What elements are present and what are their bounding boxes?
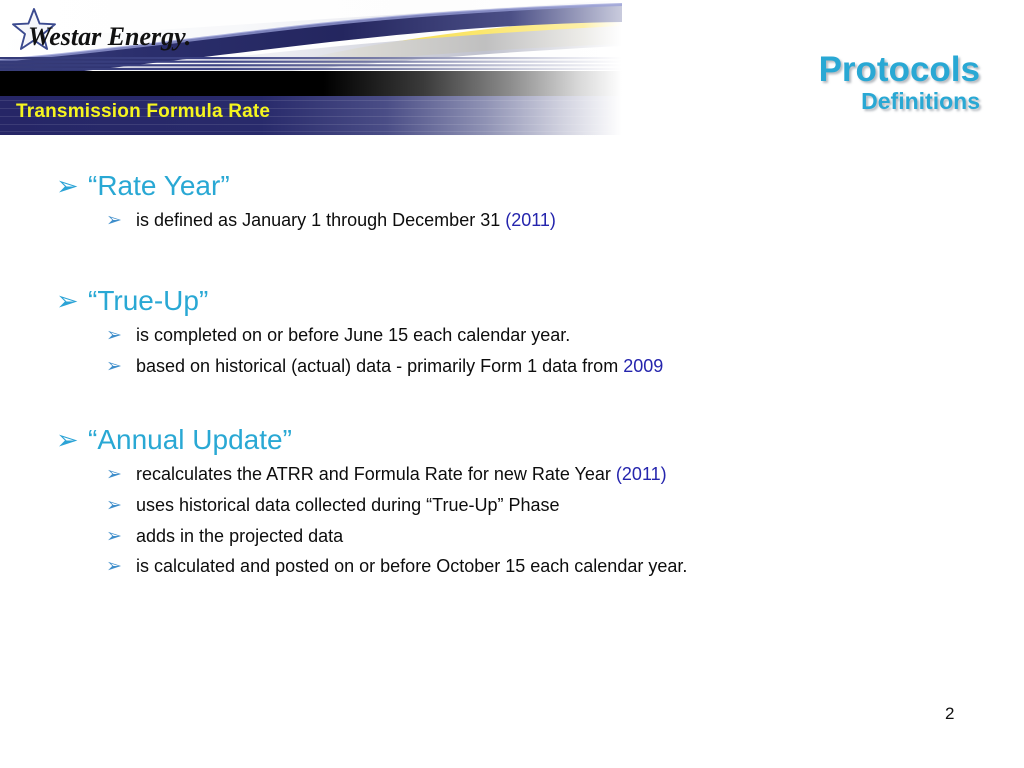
content-group-annual-update: ➢ “Annual Update” ➢ recalculates the ATR… bbox=[0, 424, 1024, 578]
bullet-arrow-icon: ➢ bbox=[106, 496, 136, 515]
page-number: 2 bbox=[945, 704, 954, 724]
bullet-item-main: is defined as January 1 through December… bbox=[136, 210, 505, 230]
bullet-item: ➢ is completed on or before June 15 each… bbox=[0, 325, 1024, 347]
bullet-arrow-icon: ➢ bbox=[106, 557, 136, 576]
westar-energy-logo: Westar Energy. bbox=[10, 6, 200, 58]
bullet-heading-annual-update: ➢ “Annual Update” bbox=[0, 424, 1024, 456]
content-group-true-up: ➢ “True-Up” ➢ is completed on or before … bbox=[0, 285, 1024, 377]
page-title: Protocols bbox=[819, 52, 980, 88]
group-spacer bbox=[0, 386, 1024, 424]
bullet-heading-true-up: ➢ “True-Up” bbox=[0, 285, 1024, 317]
bullet-item-text: is defined as January 1 through December… bbox=[136, 210, 556, 232]
bullet-item-main: recalculates the ATRR and Formula Rate f… bbox=[136, 464, 616, 484]
bullet-item: ➢ recalculates the ATRR and Formula Rate… bbox=[0, 464, 1024, 486]
bullet-item-text: uses historical data collected during “T… bbox=[136, 495, 560, 517]
bullet-item-highlight: 2009 bbox=[623, 356, 663, 376]
bullet-item-main: adds in the projected data bbox=[136, 526, 343, 546]
slide-content: ➢ “Rate Year” ➢ is defined as January 1 … bbox=[0, 170, 1024, 587]
logo-wordmark: Westar Energy. bbox=[28, 22, 191, 51]
bullet-arrow-icon: ➢ bbox=[56, 427, 88, 454]
bullet-heading-text: “Rate Year” bbox=[88, 170, 230, 202]
page-subtitle: Definitions bbox=[819, 89, 980, 114]
bullet-arrow-icon: ➢ bbox=[106, 465, 136, 484]
bullet-item-text: recalculates the ATRR and Formula Rate f… bbox=[136, 464, 667, 486]
bullet-item-text: is completed on or before June 15 each c… bbox=[136, 325, 570, 347]
bullet-arrow-icon: ➢ bbox=[106, 211, 136, 230]
group-spacer bbox=[0, 241, 1024, 285]
bullet-heading-text: “Annual Update” bbox=[88, 424, 292, 456]
bullet-item: ➢ based on historical (actual) data - pr… bbox=[0, 356, 1024, 378]
bullet-item-text: is calculated and posted on or before Oc… bbox=[136, 556, 687, 578]
bullet-arrow-icon: ➢ bbox=[106, 326, 136, 345]
bullet-item: ➢ uses historical data collected during … bbox=[0, 495, 1024, 517]
bullet-item: ➢ is calculated and posted on or before … bbox=[0, 556, 1024, 578]
bullet-item-text: based on historical (actual) data - prim… bbox=[136, 356, 663, 378]
content-group-rate-year: ➢ “Rate Year” ➢ is defined as January 1 … bbox=[0, 170, 1024, 232]
bullet-arrow-icon: ➢ bbox=[106, 527, 136, 546]
bullet-item-highlight: (2011) bbox=[616, 464, 667, 484]
bullet-heading-rate-year: ➢ “Rate Year” bbox=[0, 170, 1024, 202]
bullet-item: ➢ is defined as January 1 through Decemb… bbox=[0, 210, 1024, 232]
header-banner: Westar Energy. Transmission Formula Rate bbox=[0, 0, 622, 136]
bullet-item-main: is calculated and posted on or before Oc… bbox=[136, 556, 687, 576]
bullet-arrow-icon: ➢ bbox=[56, 173, 88, 200]
bullet-heading-text: “True-Up” bbox=[88, 285, 208, 317]
bullet-item-text: adds in the projected data bbox=[136, 526, 343, 548]
bullet-arrow-icon: ➢ bbox=[106, 357, 136, 376]
bullet-item-main: uses historical data collected during “T… bbox=[136, 495, 560, 515]
bullet-item-main: is completed on or before June 15 each c… bbox=[136, 325, 570, 345]
slide-title-block: Protocols Definitions bbox=[819, 52, 980, 114]
bullet-item: ➢ adds in the projected data bbox=[0, 526, 1024, 548]
bullet-arrow-icon: ➢ bbox=[56, 288, 88, 315]
banner-subtitle: Transmission Formula Rate bbox=[16, 101, 270, 123]
bullet-item-highlight: (2011) bbox=[505, 210, 556, 230]
bullet-item-main: based on historical (actual) data - prim… bbox=[136, 356, 623, 376]
logo-graphic: Westar Energy. bbox=[10, 6, 200, 58]
